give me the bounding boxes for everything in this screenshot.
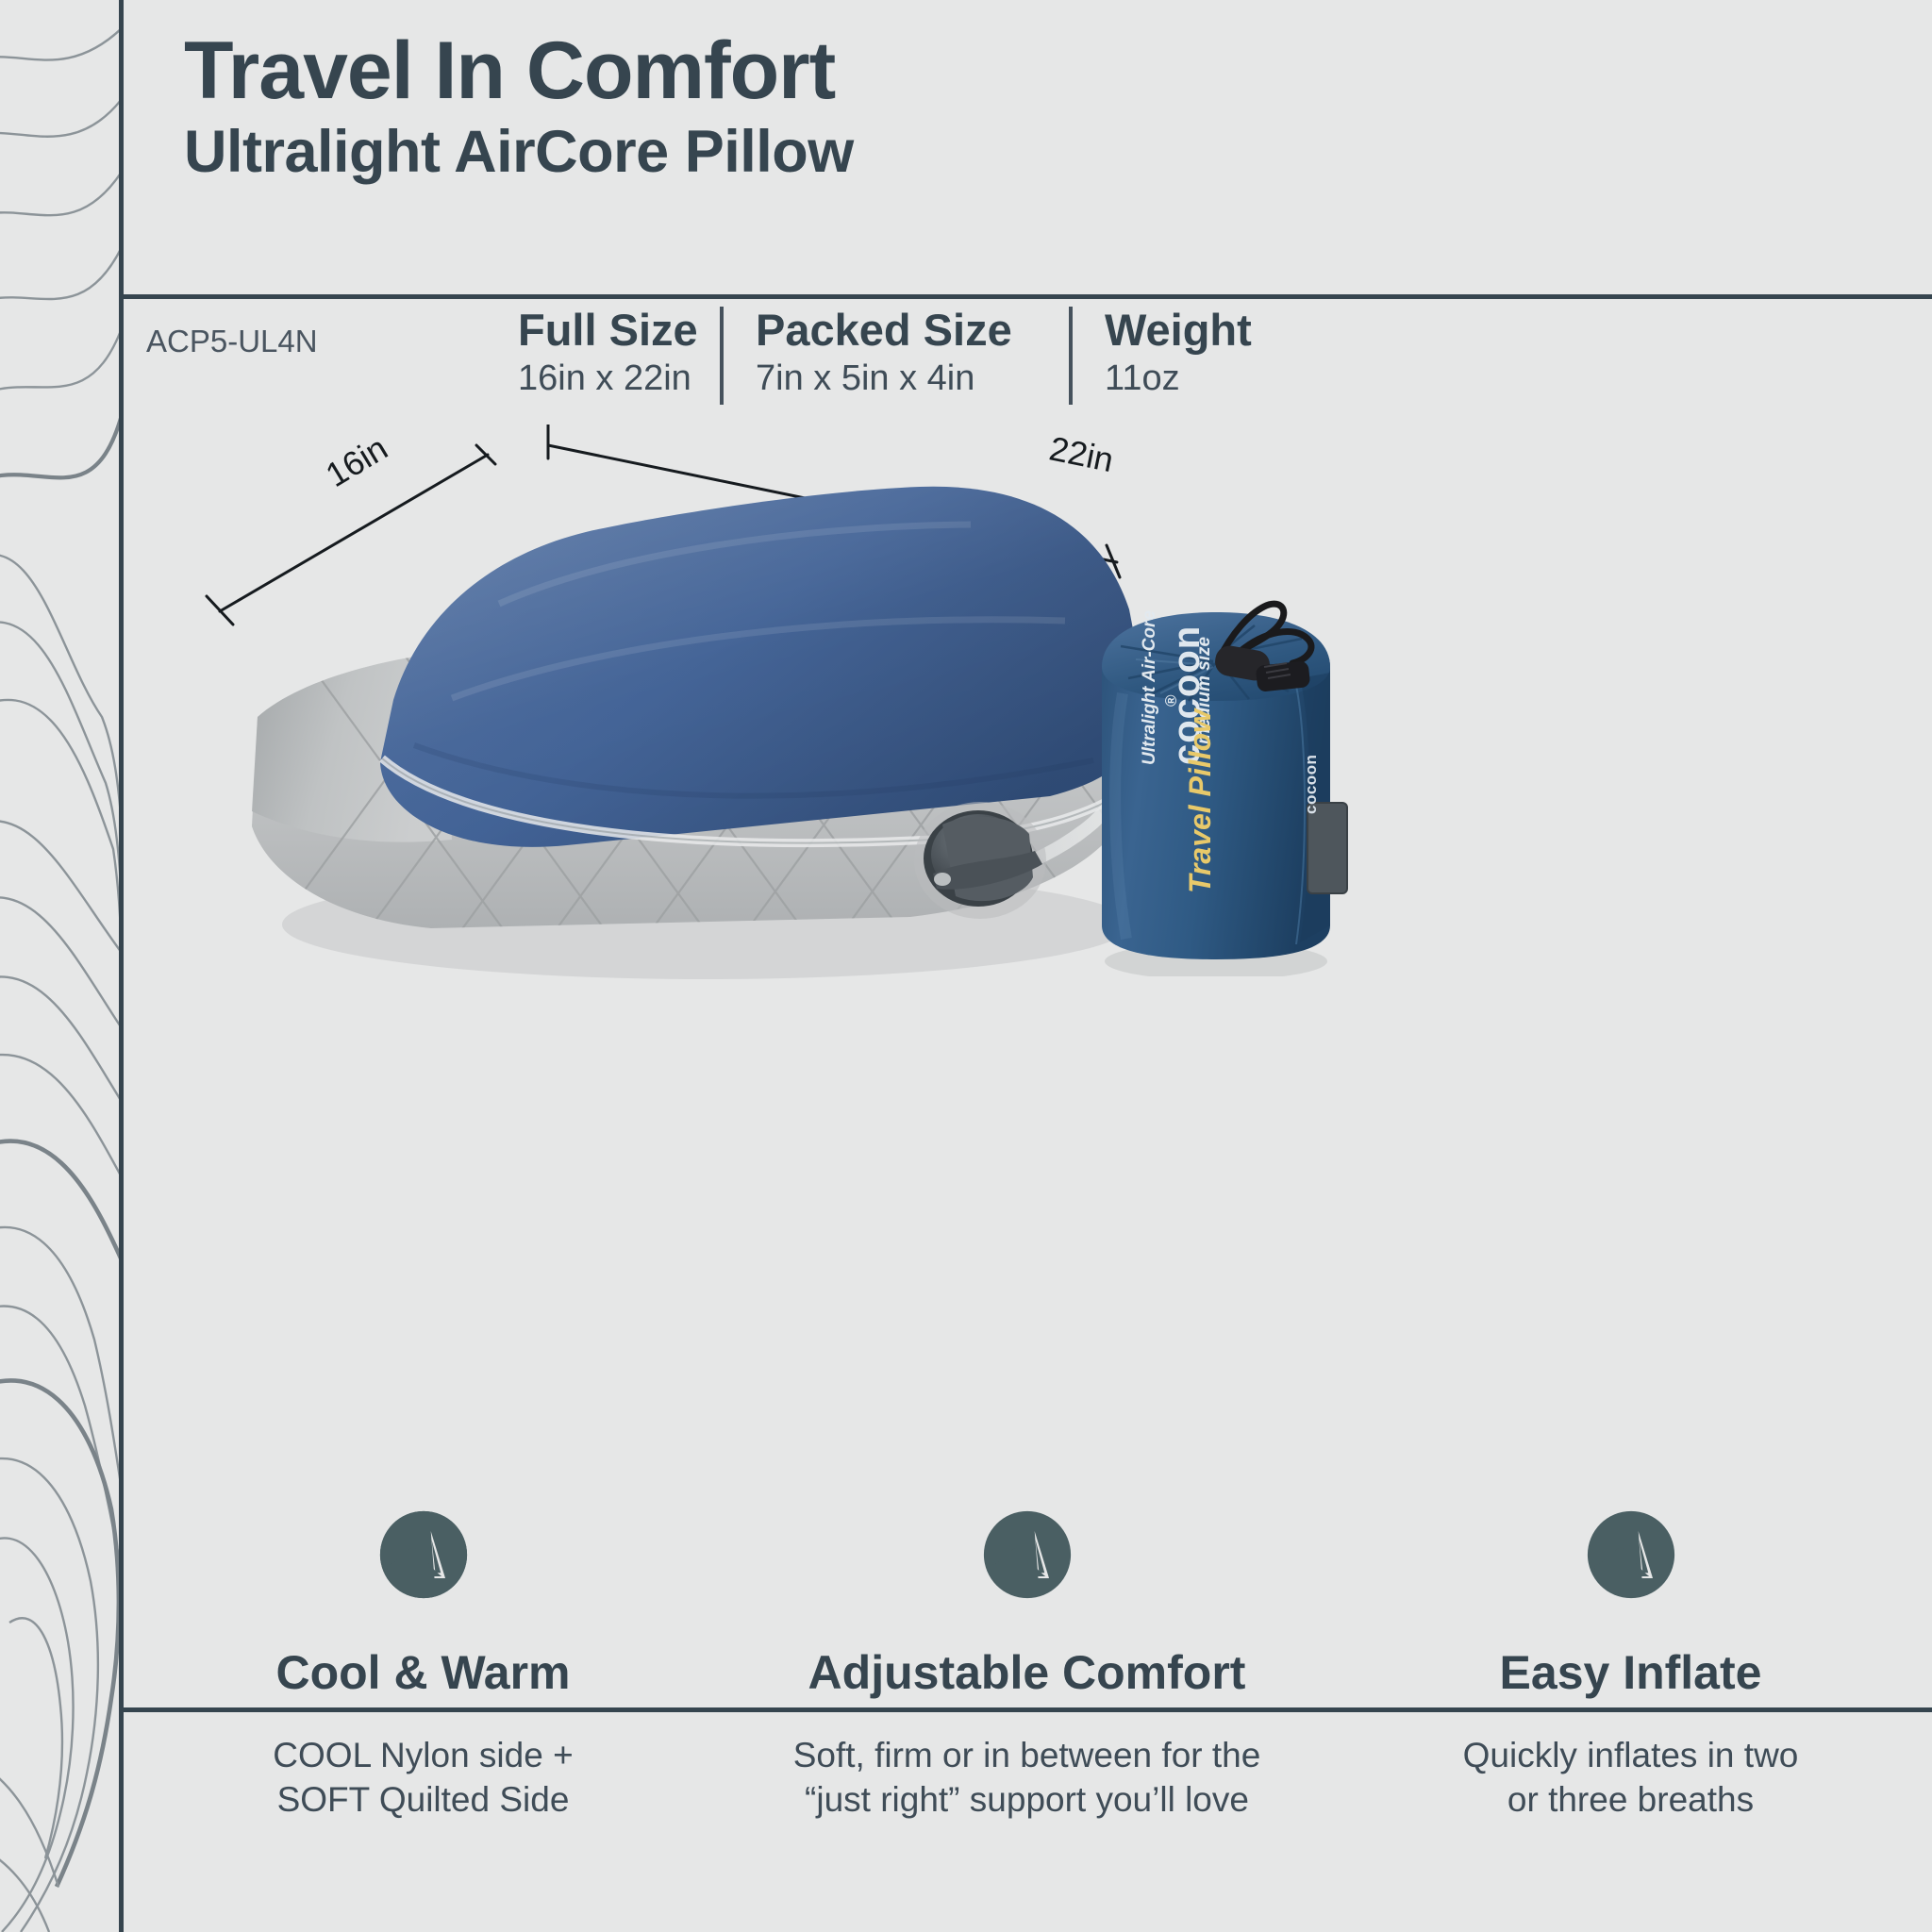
feature-description: Quickly inflates in two or three breaths <box>1329 1734 1932 1823</box>
mountain-circle-icon <box>1586 1509 1676 1600</box>
spec-label: Full Size <box>518 307 720 355</box>
spec-value: 16in x 22in <box>518 358 720 399</box>
spec-full-size: Full Size 16in x 22in <box>518 299 720 412</box>
feature-row: Cool & Warm Adjustable Comfort <box>122 1509 1932 1755</box>
description-line: SOFT Quilted Side <box>122 1778 724 1823</box>
product-sku: ACP5-UL4N <box>122 299 518 359</box>
spec-label: Weight <box>1105 307 1356 355</box>
feature-title: Easy Inflate <box>1329 1645 1932 1700</box>
spec-packed-size: Packed Size 7in x 5in x 4in <box>724 299 1069 412</box>
spec-weight: Weight 11oz <box>1073 299 1356 412</box>
feature-description: Soft, firm or in between for the “just r… <box>725 1734 1328 1823</box>
feature-easy-inflate: Easy Inflate <box>1329 1509 1932 1700</box>
feature-divider-rule <box>122 1707 1932 1712</box>
topographic-pattern <box>0 0 122 1932</box>
spec-label: Packed Size <box>756 307 1069 355</box>
description-line: Soft, firm or in between for the <box>725 1734 1328 1778</box>
description-line: Quickly inflates in two <box>1329 1734 1932 1778</box>
spec-bar: ACP5-UL4N Full Size 16in x 22in Packed S… <box>122 299 1932 422</box>
feature-title: Adjustable Comfort <box>725 1645 1328 1700</box>
description-line: “just right” support you’ll love <box>725 1778 1328 1823</box>
feature-adjustable-comfort: Adjustable Comfort <box>725 1509 1328 1700</box>
feature-description: COOL Nylon side + SOFT Quilted Side <box>122 1734 724 1823</box>
feature-title: Cool & Warm <box>122 1645 724 1700</box>
stuff-sack-photo: cocoon ® Ultralight Air-Core medium size… <box>1070 580 1362 976</box>
product-infographic: Travel In Comfort Ultralight AirCore Pil… <box>0 0 1932 1932</box>
spec-value: 7in x 5in x 4in <box>756 358 1069 399</box>
page-title: Travel In Comfort <box>184 28 835 113</box>
pillow-product-photo <box>216 434 1159 1019</box>
description-line: COOL Nylon side + <box>122 1734 724 1778</box>
page-subtitle: Ultralight AirCore Pillow <box>184 121 854 183</box>
product-image-area: 22in 16in <box>122 425 1932 1500</box>
mountain-circle-icon <box>378 1509 469 1600</box>
valve <box>914 802 1046 919</box>
mountain-circle-icon <box>982 1509 1073 1600</box>
header: Travel In Comfort Ultralight AirCore Pil… <box>122 0 1932 294</box>
sack-side-tab <box>1307 803 1347 893</box>
feature-cool-and-warm: Cool & Warm <box>122 1509 724 1700</box>
spec-value: 11oz <box>1105 358 1356 399</box>
description-line: or three breaths <box>1329 1778 1932 1823</box>
